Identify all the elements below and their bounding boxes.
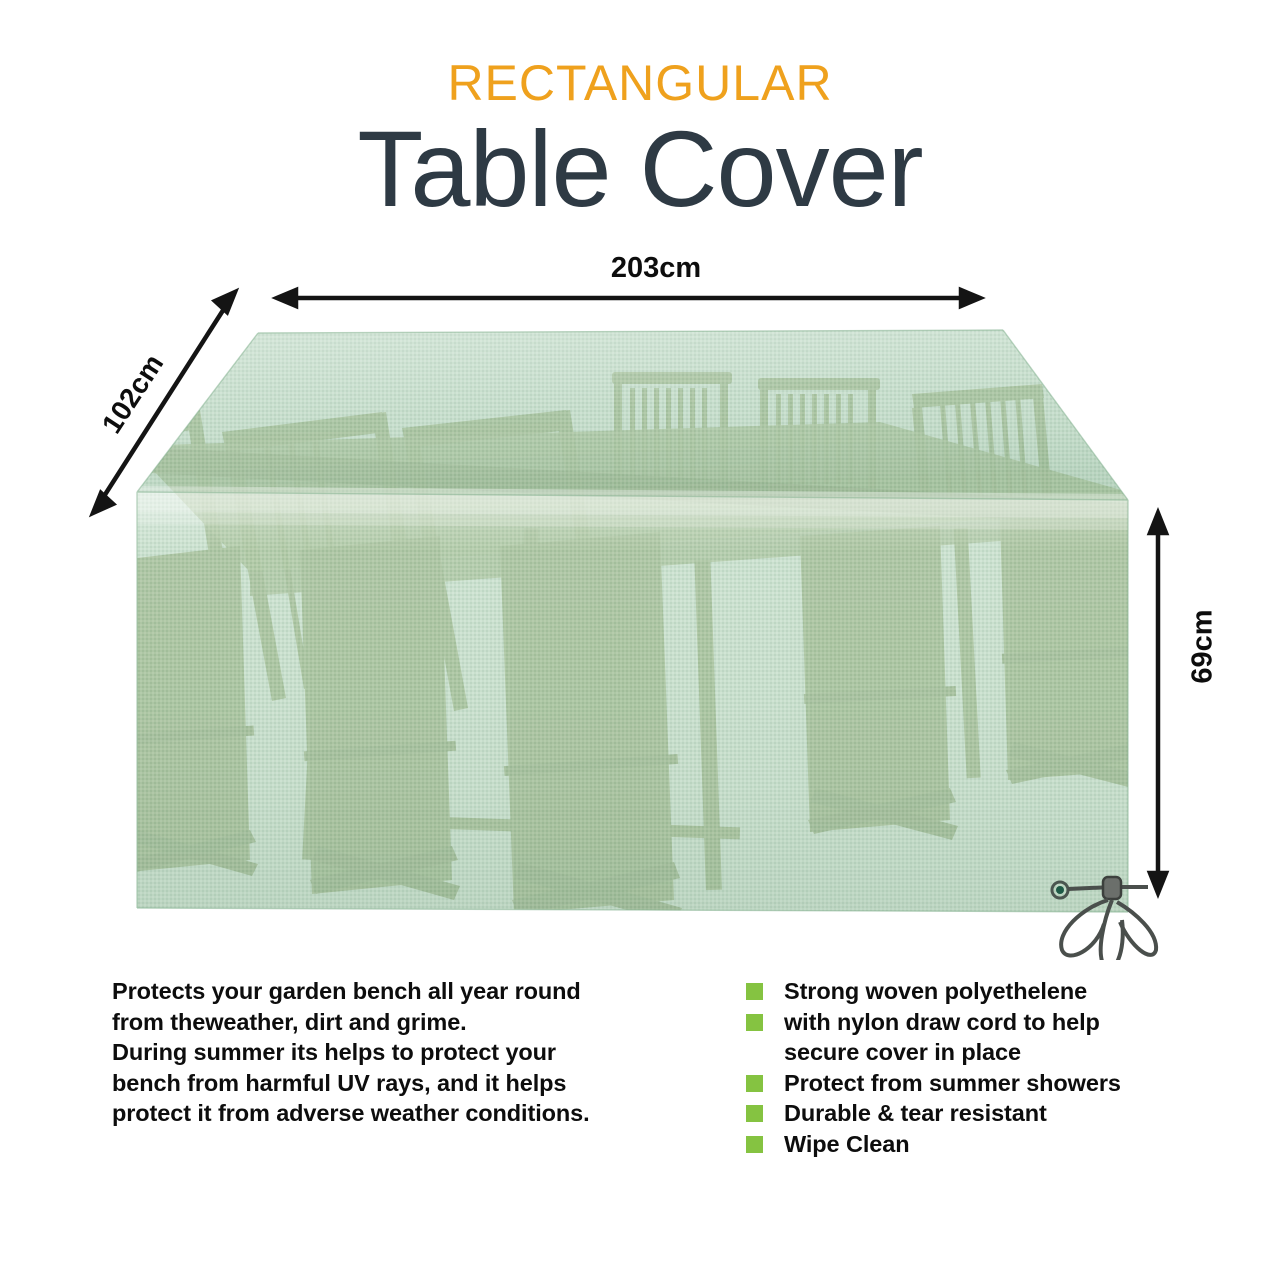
bullet-square-icon [746, 983, 763, 1000]
feature-label: Strong woven polyethelene [784, 978, 1087, 1004]
bullet-square-icon [746, 1075, 763, 1092]
description-block: Protects your garden bench all year roun… [112, 976, 672, 1129]
drawcord-detail [1052, 877, 1156, 960]
page-kicker: RECTANGULAR [0, 58, 1280, 108]
product-diagram [0, 260, 1280, 960]
feature-label: with nylon draw cord to help [784, 1009, 1100, 1035]
feature-label: secure cover in place [784, 1039, 1021, 1065]
dimension-label-height: 69cm [1187, 572, 1220, 722]
bullet-square-icon [746, 1105, 763, 1122]
feature-item: Strong woven polyethelene [742, 976, 1212, 1007]
features-list: Strong woven polyethelene with nylon dra… [742, 976, 1212, 1159]
title-block: RECTANGULAR Table Cover [0, 58, 1280, 225]
description-line: from theweather, dirt and grime. [112, 1007, 672, 1038]
feature-label: Protect from summer showers [784, 1070, 1121, 1096]
product-illustration: 203cm 102cm 69cm [0, 260, 1280, 960]
dimension-width-arrow [277, 290, 980, 306]
feature-item: Wipe Clean [742, 1129, 1212, 1160]
bullet-square-icon [746, 1014, 763, 1031]
product-infographic: RECTANGULAR Table Cover [0, 0, 1280, 1280]
description-line: protect it from adverse weather conditio… [112, 1098, 672, 1129]
bullet-square-icon [746, 1136, 763, 1153]
feature-item-continuation: secure cover in place [742, 1037, 1212, 1068]
feature-item: Protect from summer showers [742, 1068, 1212, 1099]
dimension-height-arrow [1150, 513, 1166, 893]
description-line: Protects your garden bench all year roun… [112, 976, 672, 1007]
feature-label: Durable & tear resistant [784, 1100, 1047, 1126]
description-line: bench from harmful UV rays, and it helps [112, 1068, 672, 1099]
dimension-label-width: 203cm [586, 252, 726, 285]
feature-label: Wipe Clean [784, 1131, 909, 1157]
description-line: During summer its helps to protect your [112, 1037, 672, 1068]
feature-item: Durable & tear resistant [742, 1098, 1212, 1129]
page-title: Table Cover [0, 112, 1280, 225]
feature-item: with nylon draw cord to help [742, 1007, 1212, 1038]
